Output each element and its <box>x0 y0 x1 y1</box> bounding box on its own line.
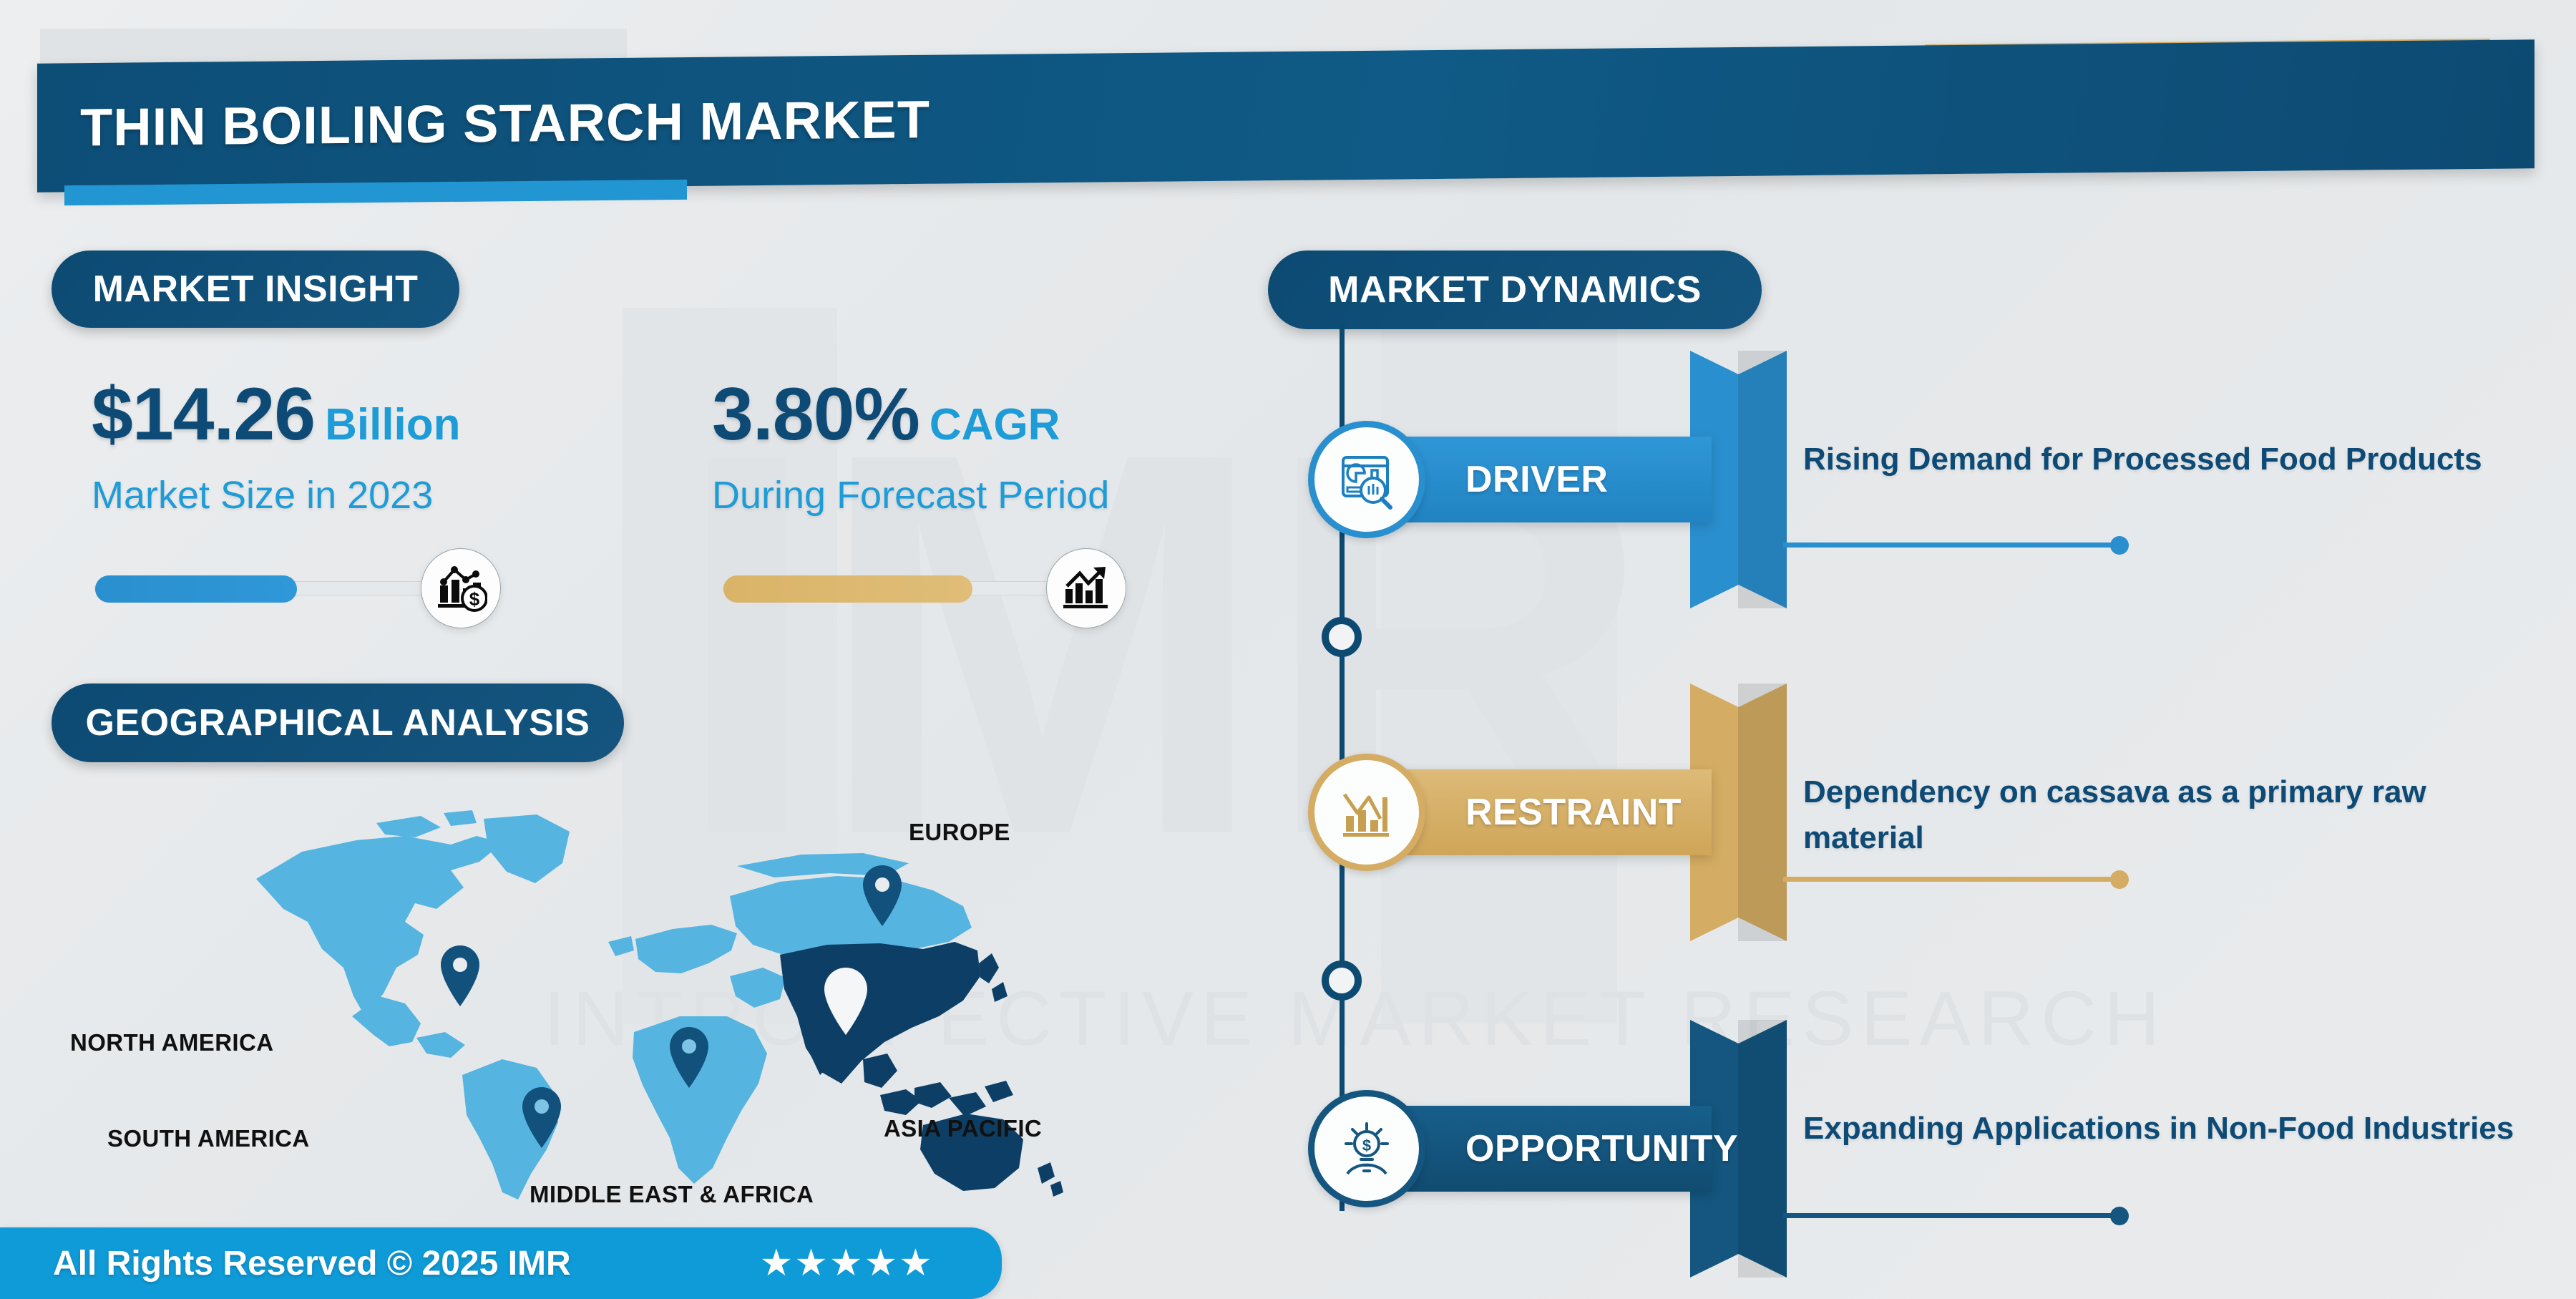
declining-bar-chart-icon <box>1308 754 1425 871</box>
market-size-progress-track <box>94 581 452 595</box>
opportunity-label: OPPORTUNITY <box>1465 1127 1738 1170</box>
lightbulb-dollar-icon: $ <box>1308 1090 1425 1207</box>
map-label-north-america: NORTH AMERICA <box>70 1029 273 1056</box>
section-pill-market-dynamics: MARKET DYNAMICS <box>1268 250 1762 329</box>
map-label-middle-east-africa: MIDDLE EAST & AFRICA <box>530 1181 814 1208</box>
world-map-svg <box>236 802 1116 1202</box>
restraint-bar[interactable]: RESTRAINT <box>1340 769 1712 855</box>
world-map: NORTH AMERICA EUROPE ASIA PACIFIC SOUTH … <box>236 802 1116 1202</box>
driver-bar[interactable]: DRIVER <box>1340 437 1712 522</box>
cagr-caption: During Forecast Period <box>712 473 1109 517</box>
cagr-progress-track <box>723 581 1080 595</box>
dynamics-node-2 <box>1322 960 1362 1001</box>
svg-text:$: $ <box>469 588 480 610</box>
map-highlight-asia-pacific <box>780 942 1063 1197</box>
opportunity-leader-line <box>1783 1213 2119 1218</box>
map-label-europe: EUROPE <box>909 819 1010 846</box>
watermark-panel-right <box>1381 308 1617 1023</box>
rating-stars: ★★★★★ <box>760 1242 934 1285</box>
section-pill-market-insight: MARKET INSIGHT <box>52 250 459 328</box>
restraint-leader-line <box>1783 877 2119 882</box>
cagr-unit: CAGR <box>930 399 1060 450</box>
restraint-label: RESTRAINT <box>1465 791 1682 834</box>
stat-market-size: $14.26 Billion Market Size in 2023 <box>92 372 461 517</box>
market-size-value: $14.26 <box>92 372 315 457</box>
driver-text: Rising Demand for Processed Food Product… <box>1803 437 2519 482</box>
cagr-progress-fill <box>723 575 972 603</box>
opportunity-text: Expanding Applications in Non-Food Indus… <box>1803 1106 2519 1152</box>
infographic-canvas: IMR INTROSPECTIVE MARKET RESEARCH THIN B… <box>0 0 2576 1299</box>
market-size-caption: Market Size in 2023 <box>92 473 461 517</box>
stat-cagr: 3.80% CAGR During Forecast Period <box>712 372 1109 517</box>
bar-chart-dollar-icon: $ <box>421 548 501 628</box>
growth-arrow-chart-icon <box>1046 548 1126 628</box>
map-label-asia-pacific: ASIA PACIFIC <box>884 1115 1042 1142</box>
geographical-analysis-label: GEOGRAPHICAL ANALYSIS <box>86 701 590 744</box>
driver-label: DRIVER <box>1465 458 1608 501</box>
driver-leader-line <box>1783 543 2119 548</box>
opportunity-bar[interactable]: $ OPPORTUNITY <box>1340 1106 1712 1192</box>
map-label-south-america: SOUTH AMERICA <box>107 1125 310 1152</box>
svg-text:$: $ <box>1362 1137 1371 1154</box>
cagr-value: 3.80% <box>712 372 919 457</box>
map-pin-north-america <box>441 945 479 1006</box>
market-dynamics-label: MARKET DYNAMICS <box>1328 268 1702 311</box>
dashboard-analytics-search-icon <box>1308 421 1425 538</box>
market-size-unit: Billion <box>325 399 460 450</box>
market-insight-label: MARKET INSIGHT <box>93 268 419 311</box>
dynamics-node-1 <box>1322 617 1362 657</box>
market-size-progress-fill <box>95 575 297 603</box>
copyright-text: All Rights Reserved © 2025 IMR <box>53 1244 571 1283</box>
restraint-text: Dependency on cassava as a primary raw m… <box>1803 769 2519 861</box>
footer-bar: All Rights Reserved © 2025 IMR ★★★★★ <box>0 1227 1002 1299</box>
section-pill-geographical-analysis: GEOGRAPHICAL ANALYSIS <box>52 683 624 762</box>
